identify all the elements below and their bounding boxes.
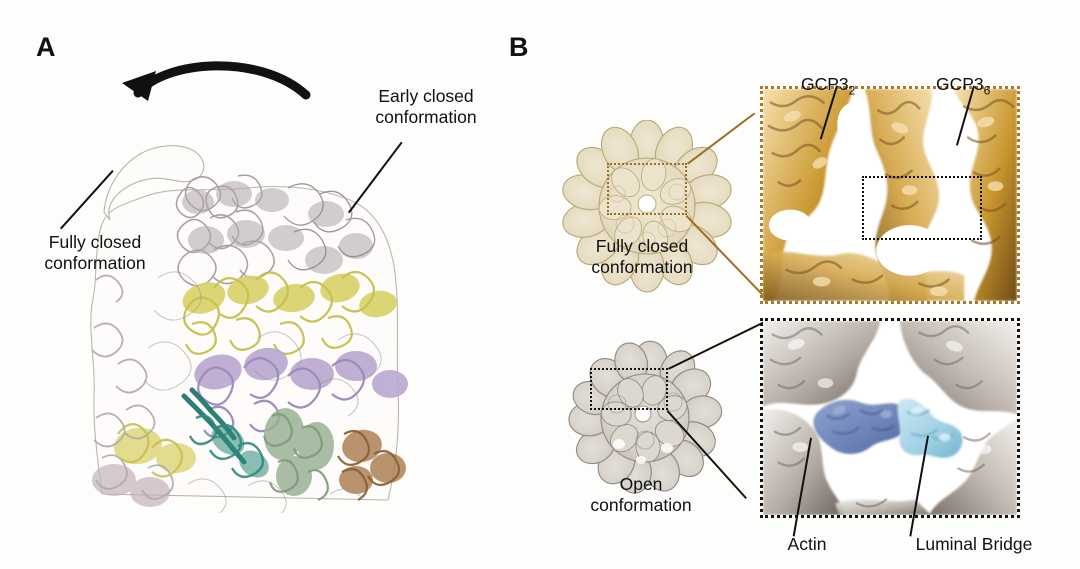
figure-canvas: A bbox=[0, 0, 1080, 569]
open-conformation-label-b: Open conformation bbox=[552, 474, 730, 515]
fully-closed-ring-zoom-box bbox=[607, 163, 687, 215]
luminal-bridge-label: Luminal Bridge bbox=[874, 534, 1074, 555]
gcp3-2-label: GCP32 bbox=[801, 53, 855, 97]
open-ring-zoom-box bbox=[590, 368, 668, 410]
actin-label: Actin bbox=[752, 534, 862, 555]
open-density-inset bbox=[760, 318, 1020, 518]
gcp3-2-label-subscript: 2 bbox=[849, 83, 856, 97]
panel-a-letter: A bbox=[36, 32, 56, 63]
conformational-change-arrow bbox=[120, 55, 320, 115]
gcp3-6-label: GCP36 bbox=[936, 53, 990, 97]
fully-closed-inset-inner-box bbox=[862, 176, 982, 240]
gcp3-6-label-subscript: 6 bbox=[984, 83, 991, 97]
fully-closed-conformation-label-a: Fully closed conformation bbox=[10, 232, 180, 273]
early-closed-conformation-label-a: Early closed conformation bbox=[340, 86, 512, 127]
gcp3-2-label-text: GCP3 bbox=[801, 74, 849, 94]
fully-closed-conformation-label-b: Fully closed conformation bbox=[552, 236, 732, 277]
panel-b-letter: B bbox=[509, 32, 529, 63]
gcp3-6-label-text: GCP3 bbox=[936, 74, 984, 94]
